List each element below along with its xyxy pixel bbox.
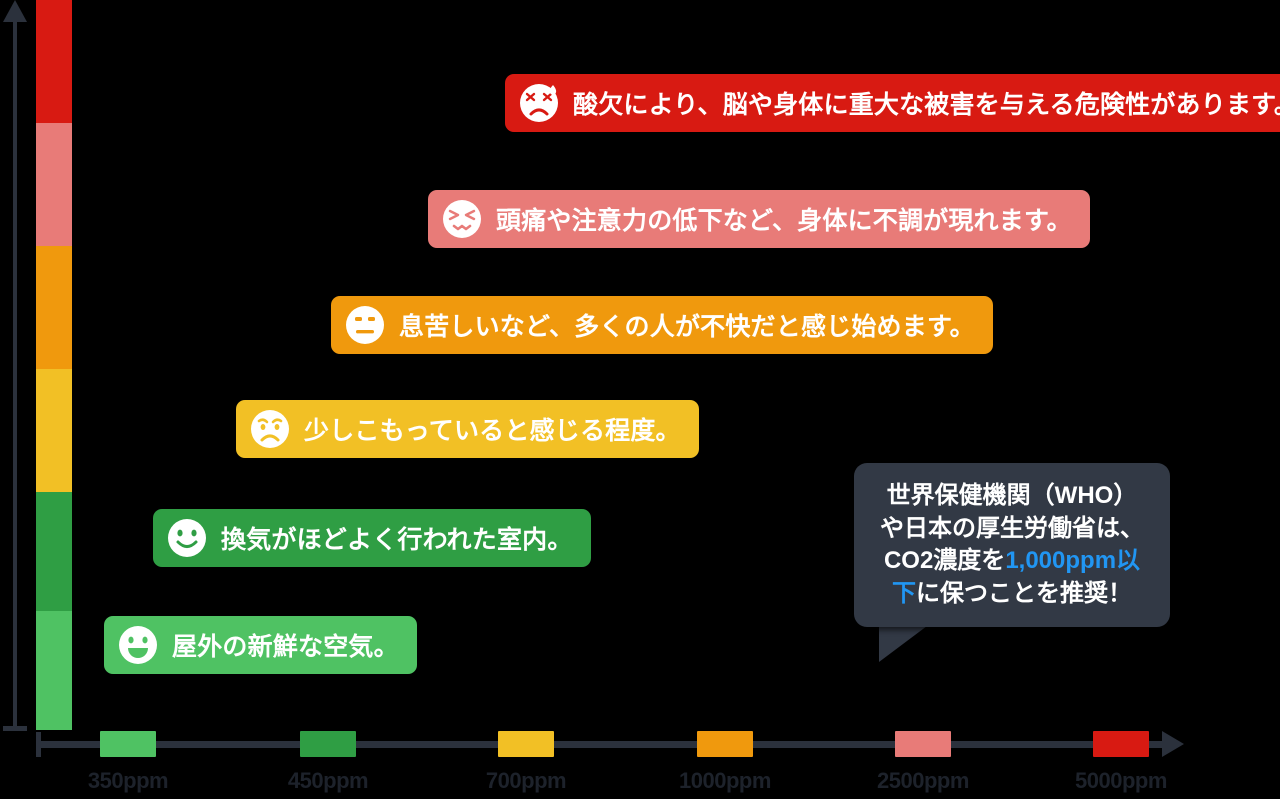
x-axis-swatch-5000ppm: [1093, 731, 1149, 757]
vertical-color-scale: [36, 0, 72, 730]
who-note-line-3: CO2濃度を1,000ppm以: [870, 545, 1154, 578]
bubble-mild-label: 少しこもっていると感じる程度。: [304, 411, 681, 447]
bubble-danger: 酸欠により、脳や身体に重大な被害を与える危険性があります。: [505, 74, 1280, 132]
who-note-line-3-plain: CO2濃度を: [884, 547, 1005, 574]
who-note-line-4: 下に保つことを推奨！: [870, 578, 1154, 611]
who-note-line-4-plain: に保つことを推奨！: [916, 580, 1132, 607]
who-note-line-1: 世界保健機関（WHO）: [870, 480, 1154, 513]
y-axis-line: [13, 18, 17, 730]
y-axis-origin-tick: [3, 726, 27, 731]
x-axis-label-700ppm: 700ppm: [446, 768, 606, 794]
bubble-fresh: 屋外の新鮮な空気。: [104, 616, 417, 674]
x-axis-swatch-450ppm: [300, 731, 356, 757]
bubble-ventilated-label: 換気がほどよく行われた室内。: [221, 520, 573, 556]
face-neutral-icon: [345, 305, 385, 345]
red-segment: [36, 0, 72, 123]
co2-concentration-infographic: 350ppm450ppm700ppm1000ppm2500ppm5000ppm …: [0, 0, 1280, 799]
who-note-tail: [879, 626, 927, 662]
x-axis-swatch-2500ppm: [895, 731, 951, 757]
who-note-ppm-highlight: 1,000ppm以: [1005, 547, 1140, 574]
who-recommendation-note: 世界保健機関（WHO） や日本の厚生労働省は、 CO2濃度を1,000ppm以 …: [854, 463, 1170, 627]
x-axis-line: [36, 741, 1168, 748]
bubble-headache-label: 頭痛や注意力の低下など、身体に不調が現れます。: [496, 201, 1072, 237]
orange-segment: [36, 246, 72, 369]
green-light-segment: [36, 611, 72, 730]
yellow-segment: [36, 369, 72, 492]
green-dark-segment: [36, 492, 72, 611]
x-axis-label-2500ppm: 2500ppm: [843, 768, 1003, 794]
bubble-ventilated: 換気がほどよく行われた室内。: [153, 509, 591, 567]
x-axis-label-5000ppm: 5000ppm: [1041, 768, 1201, 794]
who-note-line-2: や日本の厚生労働省は、: [870, 513, 1154, 546]
face-dizzy-sweat-icon: [519, 83, 559, 123]
x-axis-label-1000ppm: 1000ppm: [645, 768, 805, 794]
x-axis-label-350ppm: 350ppm: [48, 768, 208, 794]
bubble-fresh-label: 屋外の新鮮な空気。: [172, 627, 399, 663]
bubble-headache: 頭痛や注意力の低下など、身体に不調が現れます。: [428, 190, 1090, 248]
x-axis-swatch-700ppm: [498, 731, 554, 757]
x-axis-swatch-1000ppm: [697, 731, 753, 757]
face-confounded-icon: [442, 199, 482, 239]
bubble-mild: 少しこもっていると感じる程度。: [236, 400, 699, 458]
bubble-stuffy-label: 息苦しいなど、多くの人が不快だと感じ始めます。: [399, 307, 975, 343]
bubble-stuffy: 息苦しいなど、多くの人が不快だと感じ始めます。: [331, 296, 993, 354]
x-axis-origin-tick: [36, 732, 41, 757]
x-axis-label-450ppm: 450ppm: [248, 768, 408, 794]
x-axis-swatch-350ppm: [100, 731, 156, 757]
salmon-segment: [36, 123, 72, 246]
face-frown-icon: [250, 409, 290, 449]
bubble-danger-label: 酸欠により、脳や身体に重大な被害を与える危険性があります。: [573, 85, 1280, 121]
face-smile-icon: [167, 518, 207, 558]
face-grin-icon: [118, 625, 158, 665]
x-axis-arrow-icon: [1162, 731, 1184, 757]
who-note-below-highlight: 下: [892, 580, 916, 607]
